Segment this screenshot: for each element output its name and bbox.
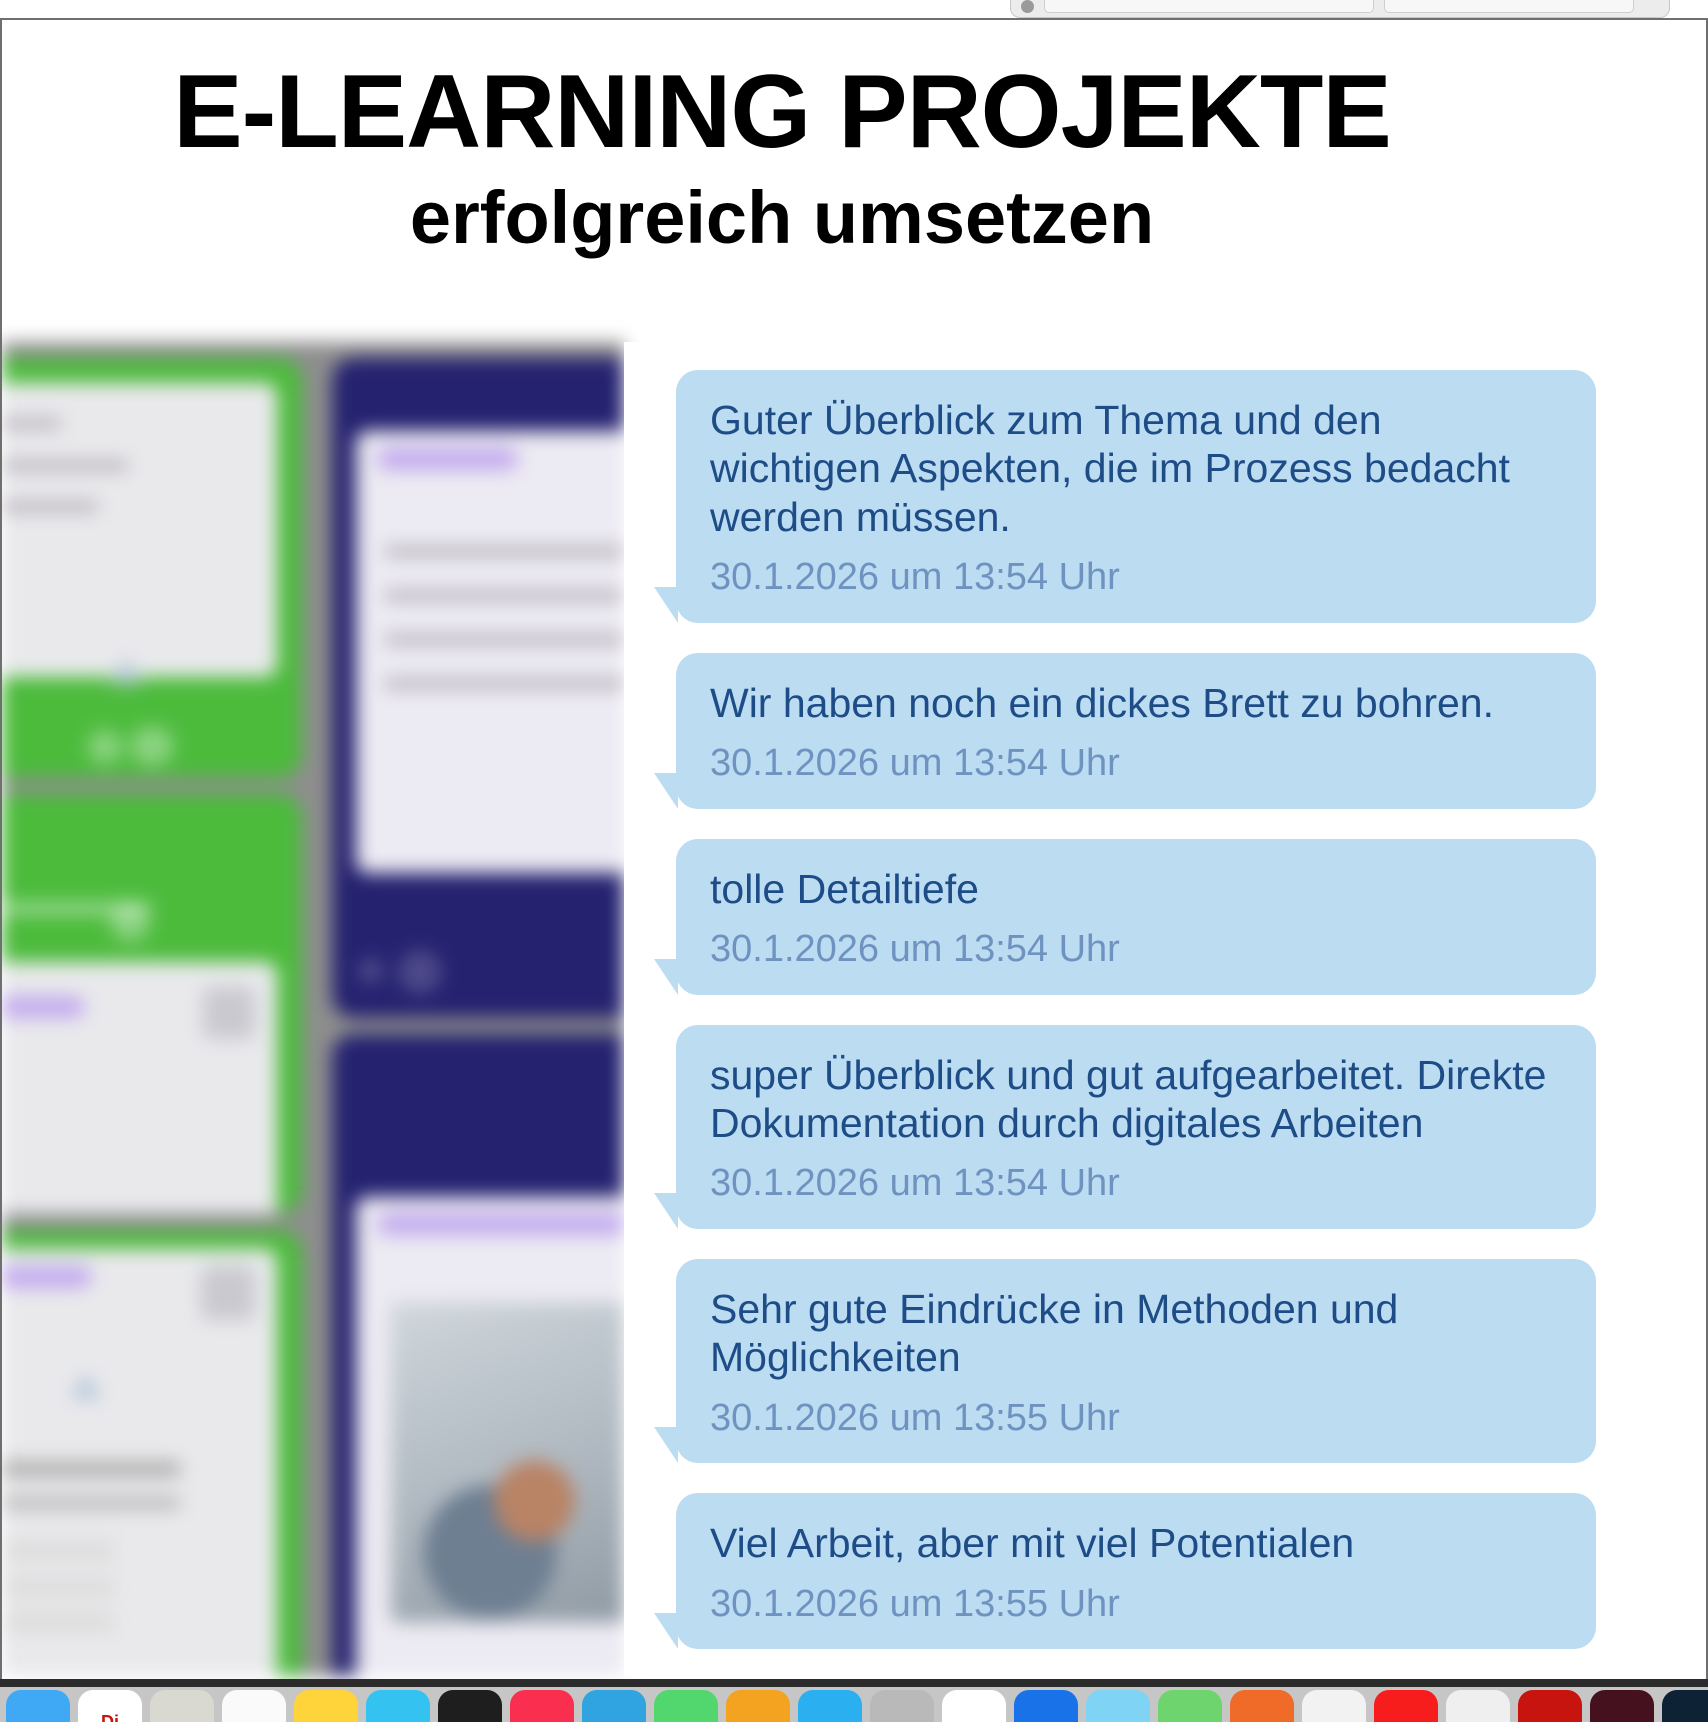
weather-icon[interactable]: [1086, 1690, 1150, 1722]
dictionary-icon[interactable]: Di: [78, 1690, 142, 1722]
comment-text: Sehr gute Eindrücke in Methoden und Mögl…: [710, 1285, 1562, 1382]
thumbnail-dot-icon: [88, 730, 122, 764]
thumbnail-card-body: [2, 383, 277, 677]
toolbar-field-primary[interactable]: [1044, 0, 1374, 13]
thumbnail-square-icon: [203, 987, 255, 1039]
thumbnail-card-body: [2, 1249, 277, 1676]
reminders-icon[interactable]: [294, 1690, 358, 1722]
thumbnail-grid: [2, 342, 624, 1676]
thumbnail-card-body: [2, 962, 277, 1214]
comment-bubble[interactable]: super Überblick und gut aufgearbeitet. D…: [676, 1025, 1596, 1229]
thumbnail-square-icon: [201, 1266, 255, 1320]
comment-text: Guter Überblick zum Thema und den wichti…: [710, 396, 1562, 541]
thumbnail-chip: [377, 448, 518, 470]
notes-icon[interactable]: [222, 1690, 286, 1722]
comment-bubble[interactable]: Sehr gute Eindrücke in Methoden und Mögl…: [676, 1259, 1596, 1463]
youtube-icon[interactable]: [1374, 1690, 1438, 1722]
terminal-icon[interactable]: [438, 1690, 502, 1722]
mail-icon[interactable]: [1014, 1690, 1078, 1722]
comment-text: tolle Detailtiefe: [710, 865, 1562, 913]
trash-icon[interactable]: [1446, 1690, 1510, 1722]
finder-icon[interactable]: [6, 1690, 70, 1722]
terminal-alt-icon[interactable]: [1662, 1690, 1708, 1722]
thumbnail-dot-icon: [130, 726, 174, 766]
thumbnail-shape-icon: [110, 658, 142, 684]
shortcuts-icon[interactable]: [942, 1690, 1006, 1722]
thumbnail-dot-icon: [110, 902, 150, 942]
calendar-icon[interactable]: [1158, 1690, 1222, 1722]
thumbnail-chip: [377, 1213, 624, 1235]
screen: E-LEARNING PROJEKTE erfolgreich umsetzen: [0, 0, 1708, 1722]
twitter-icon[interactable]: [798, 1690, 862, 1722]
photos-icon[interactable]: [150, 1690, 214, 1722]
slide-title-block: E-LEARNING PROJEKTE erfolgreich umsetzen: [2, 20, 1562, 263]
comment-list[interactable]: Guter Überblick zum Thema und den wichti…: [624, 342, 1708, 1676]
thumbnail-chip: [2, 1266, 92, 1288]
thumbnail-box: [2, 1576, 116, 1598]
xcode-icon[interactable]: [726, 1690, 790, 1722]
thumbnail-card: [2, 794, 302, 1214]
thumbnail-card: [2, 1230, 302, 1676]
thumbnail-dot-icon: [398, 950, 442, 994]
thumbnail-photo: [391, 1303, 624, 1621]
comment-timestamp: 30.1.2026 um 13:55 Uhr: [710, 1582, 1562, 1628]
comment-text: super Überblick und gut aufgearbeitet. D…: [710, 1051, 1562, 1148]
thumbnail-text-line: [384, 590, 623, 601]
page-subtitle: erfolgreich umsetzen: [2, 174, 1562, 263]
comment-bubble[interactable]: Guter Überblick zum Thema und den wichti…: [676, 370, 1596, 623]
thumbnail-card: [2, 358, 302, 778]
comment-bubble[interactable]: Wir haben noch ein dickes Brett zu bohre…: [676, 653, 1596, 809]
thumbnail-card: [332, 358, 624, 1018]
traffic-light-dot-icon[interactable]: [1021, 0, 1034, 13]
toolbar-field-secondary[interactable]: [1384, 0, 1634, 13]
thumbnail-chip: [2, 996, 85, 1018]
comment-timestamp: 30.1.2026 um 13:54 Uhr: [710, 741, 1562, 787]
comment-timestamp: 30.1.2026 um 13:55 Uhr: [710, 1396, 1562, 1442]
thumbnail-shape-icon: [70, 1373, 102, 1399]
comment-bubble[interactable]: tolle Detailtiefe 30.1.2026 um 13:54 Uhr: [676, 839, 1596, 995]
macos-dock[interactable]: Di: [0, 1687, 1708, 1722]
partial-window-toolbar[interactable]: [1010, 0, 1670, 18]
firefox-icon[interactable]: [1230, 1690, 1294, 1722]
thumbnail-dot-icon: [358, 958, 384, 984]
comment-timestamp: 30.1.2026 um 13:54 Uhr: [710, 1161, 1562, 1207]
thumbnail-text-line: [384, 678, 624, 689]
thumbnail-text-line: [2, 418, 62, 429]
messages-icon[interactable]: [366, 1690, 430, 1722]
thumbnail-box: [2, 1611, 116, 1633]
comment-timestamp: 30.1.2026 um 13:54 Uhr: [710, 927, 1562, 973]
comment-text: Wir haben noch ein dickes Brett zu bohre…: [710, 679, 1562, 727]
thumbnail-card: [332, 1034, 624, 1676]
comment-timestamp: 30.1.2026 um 13:54 Uhr: [710, 555, 1562, 601]
thumbnail-text-line: [2, 501, 99, 512]
siri-icon[interactable]: [870, 1690, 934, 1722]
thumbnail-text-line: [2, 460, 129, 471]
thumbnail-text-line: [2, 1461, 181, 1477]
thumbnail-box: [2, 1540, 116, 1562]
facetime-icon[interactable]: [654, 1690, 718, 1722]
thumbnail-card-body: [356, 431, 624, 873]
affinity-icon[interactable]: [1590, 1690, 1654, 1722]
keynote-icon[interactable]: [582, 1690, 646, 1722]
acrobat-icon[interactable]: [1518, 1690, 1582, 1722]
thumbnail-text-line: [2, 1496, 181, 1510]
music-icon[interactable]: [510, 1690, 574, 1722]
preview-icon[interactable]: [1302, 1690, 1366, 1722]
blurred-slide-thumbnails-panel: [2, 342, 624, 1676]
comment-bubble[interactable]: Viel Arbeit, aber mit viel Potentialen 3…: [676, 1493, 1596, 1649]
thumbnail-card-body: [356, 1197, 624, 1676]
slide-document: E-LEARNING PROJEKTE erfolgreich umsetzen: [0, 18, 1708, 1691]
thumbnail-text-line: [384, 546, 624, 557]
page-title: E-LEARNING PROJEKTE: [2, 56, 1562, 168]
thumbnail-text-line: [384, 634, 624, 645]
comment-text: Viel Arbeit, aber mit viel Potentialen: [710, 1519, 1562, 1567]
